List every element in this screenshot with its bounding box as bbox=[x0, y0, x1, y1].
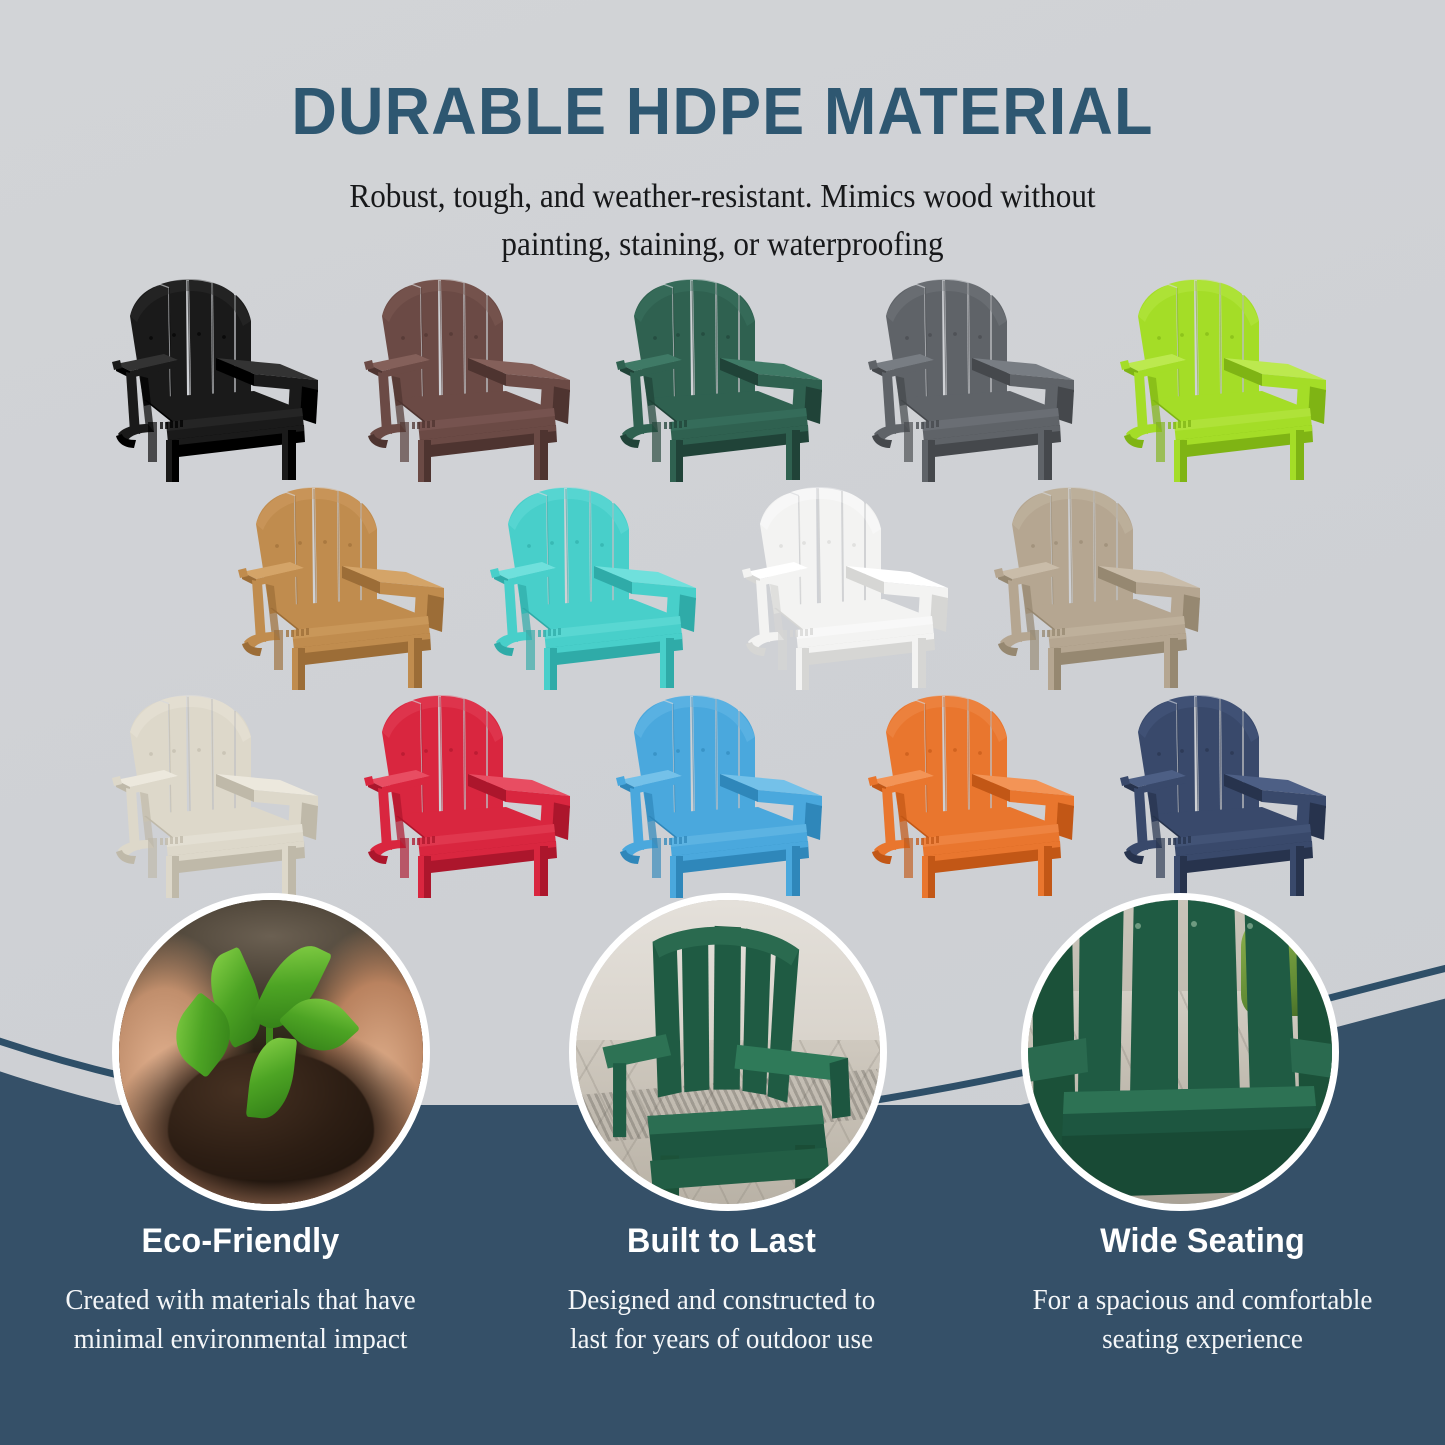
feature-desc-line-2: seating experience bbox=[991, 1320, 1414, 1359]
adirondack-chair-navy bbox=[1112, 688, 1342, 902]
feature-title: Built to Last bbox=[510, 1222, 933, 1261]
feature-description: Created with materials that have minimal… bbox=[29, 1281, 452, 1359]
adirondack-chair-white bbox=[734, 480, 964, 694]
adirondack-chair-lime-green bbox=[1112, 272, 1342, 486]
green-chair-patio-image bbox=[576, 900, 880, 1204]
feature-eco-friendly: Eco-Friendly Created with materials that… bbox=[0, 1222, 481, 1359]
chair-seat-closeup-image bbox=[1028, 900, 1332, 1204]
feature-captions: Eco-Friendly Created with materials that… bbox=[0, 1222, 1445, 1359]
chair-swatch-teak[interactable] bbox=[219, 480, 471, 696]
feature-photo-built-to-last bbox=[569, 893, 887, 1211]
chair-row-3 bbox=[0, 688, 1445, 904]
chair-row-1 bbox=[0, 272, 1445, 488]
adirondack-chair-black bbox=[104, 272, 334, 486]
adirondack-chair-light-blue bbox=[608, 688, 838, 902]
feature-desc-line-1: For a spacious and comfortable bbox=[991, 1281, 1414, 1320]
feature-desc-line-2: last for years of outdoor use bbox=[510, 1320, 933, 1359]
feature-desc-line-1: Created with materials that have bbox=[29, 1281, 452, 1320]
page-title: DURABLE HDPE MATERIAL bbox=[43, 78, 1401, 146]
adirondack-chair-teak bbox=[230, 480, 460, 694]
page-subtitle: Robust, tough, and weather-resistant. Mi… bbox=[51, 173, 1395, 268]
feature-desc-line-2: minimal environmental impact bbox=[29, 1320, 452, 1359]
feature-title: Eco-Friendly bbox=[29, 1222, 452, 1261]
chair-swatch-orange[interactable] bbox=[849, 688, 1101, 904]
feature-description: For a spacious and comfortable seating e… bbox=[991, 1281, 1414, 1359]
adirondack-chair-weathered-wood bbox=[986, 480, 1216, 694]
adirondack-chair-red bbox=[356, 688, 586, 902]
adirondack-chair-ivory bbox=[104, 688, 334, 902]
chair-swatch-gray[interactable] bbox=[849, 272, 1101, 488]
adirondack-chair-gray bbox=[860, 272, 1090, 486]
chair-swatch-red[interactable] bbox=[345, 688, 597, 904]
header: DURABLE HDPE MATERIAL Robust, tough, and… bbox=[0, 0, 1445, 268]
chair-swatch-weathered-wood[interactable] bbox=[975, 480, 1227, 696]
hands-soil-seedling-image bbox=[119, 900, 423, 1204]
chair-swatch-navy[interactable] bbox=[1101, 688, 1353, 904]
feature-desc-line-1: Designed and constructed to bbox=[510, 1281, 933, 1320]
feature-built-to-last: Built to Last Designed and constructed t… bbox=[481, 1222, 962, 1359]
chair-swatch-dark-green[interactable] bbox=[597, 272, 849, 488]
chair-swatch-turquoise[interactable] bbox=[471, 480, 723, 696]
feature-title: Wide Seating bbox=[991, 1222, 1414, 1261]
chair-swatch-white[interactable] bbox=[723, 480, 975, 696]
adirondack-chair-brown bbox=[356, 272, 586, 486]
adirondack-chair-dark-green bbox=[608, 272, 838, 486]
adirondack-chair-turquoise bbox=[482, 480, 712, 694]
feature-photos bbox=[0, 893, 1445, 1213]
feature-wide-seating: Wide Seating For a spacious and comforta… bbox=[962, 1222, 1443, 1359]
closeup-chair-graphic bbox=[1028, 900, 1332, 1204]
adirondack-chair-orange bbox=[860, 688, 1090, 902]
subtitle-line-1: Robust, tough, and weather-resistant. Mi… bbox=[51, 173, 1395, 221]
feature-photo-eco-friendly bbox=[112, 893, 430, 1211]
chair-swatch-black[interactable] bbox=[93, 272, 345, 488]
infographic-page: DURABLE HDPE MATERIAL Robust, tough, and… bbox=[0, 0, 1445, 1445]
chair-color-grid bbox=[0, 272, 1445, 904]
feature-photo-wide-seating bbox=[1021, 893, 1339, 1211]
patio-chair-graphic bbox=[576, 900, 880, 1204]
chair-swatch-brown[interactable] bbox=[345, 272, 597, 488]
chair-row-2 bbox=[0, 480, 1445, 696]
feature-description: Designed and constructed to last for yea… bbox=[510, 1281, 933, 1359]
chair-swatch-ivory[interactable] bbox=[93, 688, 345, 904]
subtitle-line-2: painting, staining, or waterproofing bbox=[51, 221, 1395, 269]
chair-swatch-light-blue[interactable] bbox=[597, 688, 849, 904]
chair-swatch-lime-green[interactable] bbox=[1101, 272, 1353, 488]
